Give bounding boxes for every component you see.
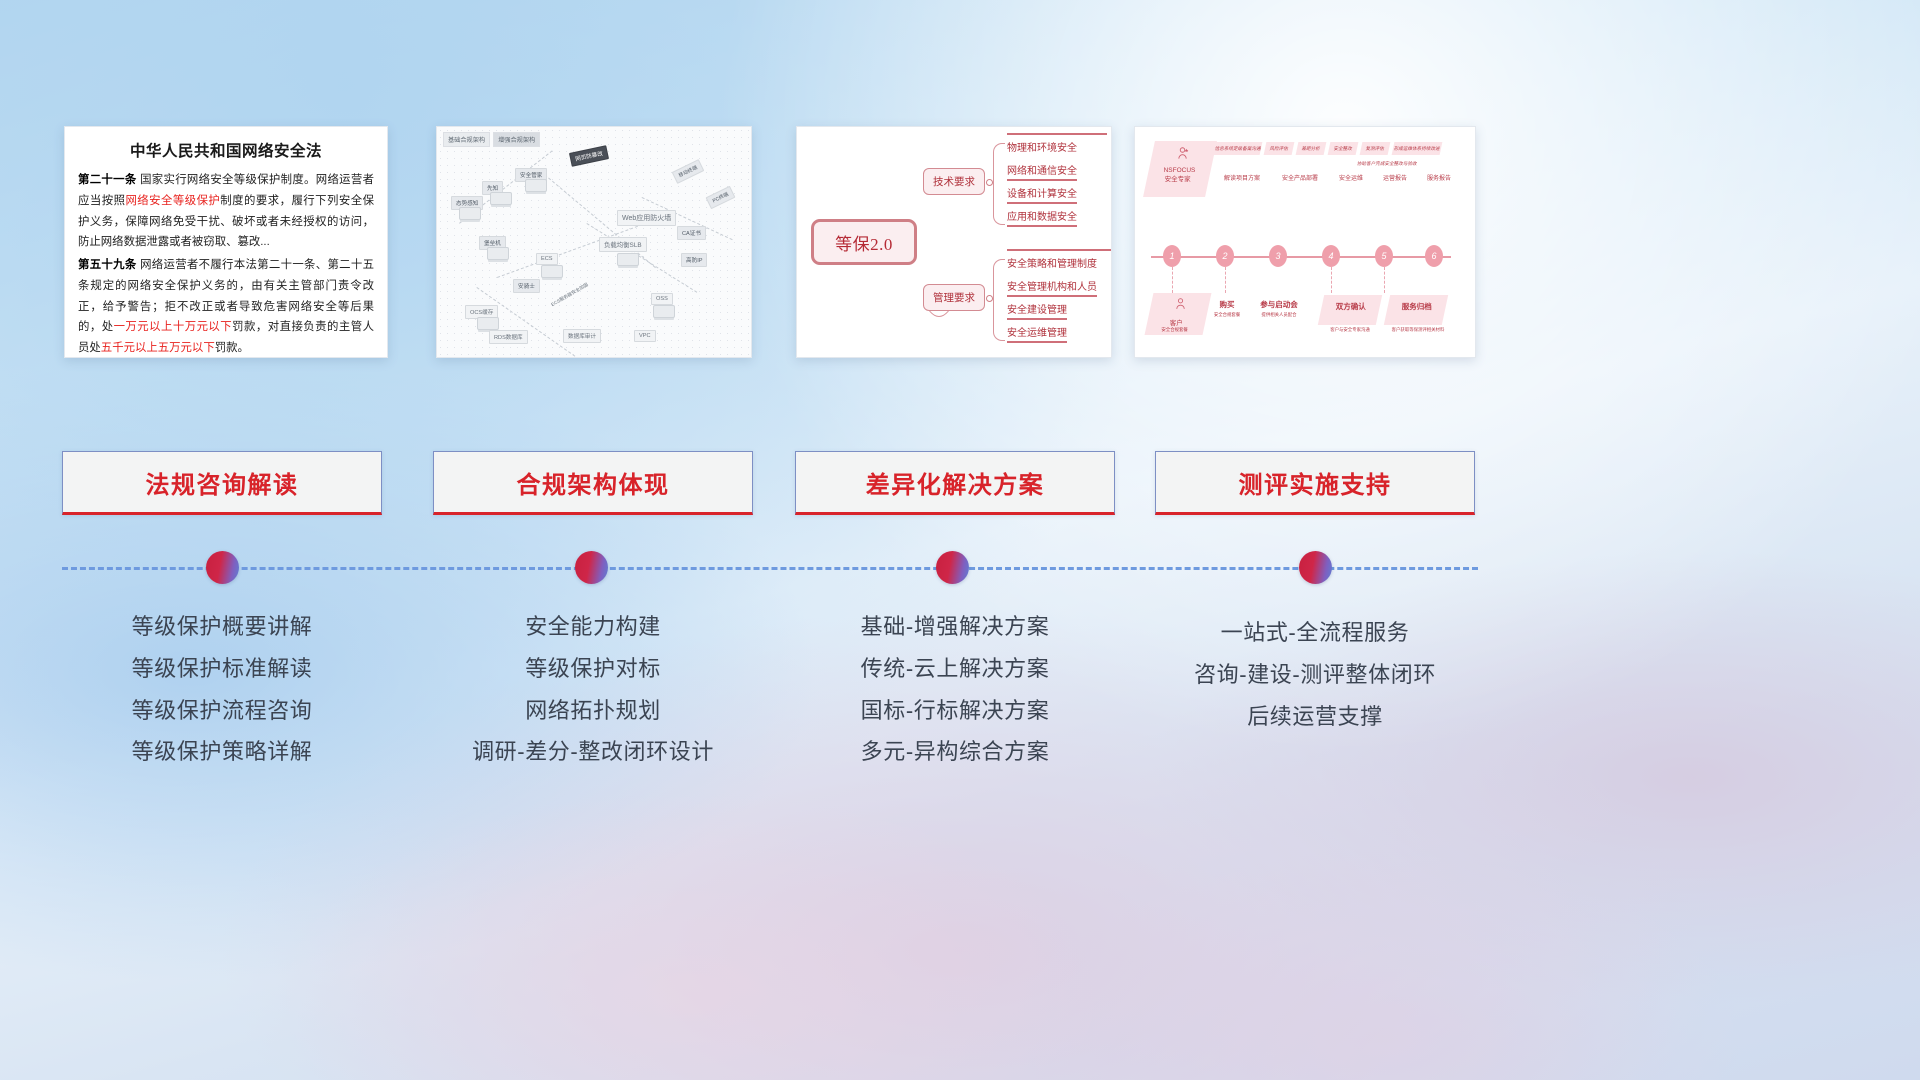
- headline-label: 合规架构体现: [517, 465, 670, 500]
- detail-item: 咨询-建设-测评整体闭环: [1155, 654, 1475, 696]
- slide-page: 中华人民共和国网络安全法 第二十一条 国家实行网络安全等级保护制度。网络运营者应…: [0, 0, 1920, 1080]
- detail-item: 网络拓扑规划: [433, 690, 753, 732]
- detail-item: 安全能力构建: [433, 606, 753, 648]
- detail-item: 等级保护标准解读: [62, 648, 382, 690]
- timeline-dashed-line: [62, 567, 1478, 570]
- detail-column-3: 基础-增强解决方案 传统-云上解决方案 国标-行标解决方案 多元-异构综合方案: [795, 606, 1115, 773]
- headline-label: 测评实施支持: [1239, 465, 1392, 500]
- timeline-dot-3[interactable]: [936, 551, 969, 584]
- detail-item: 等级保护对标: [433, 648, 753, 690]
- detail-column-1: 等级保护概要讲解 等级保护标准解读 等级保护流程咨询 等级保护策略详解: [62, 606, 382, 773]
- detail-item: 基础-增强解决方案: [795, 606, 1115, 648]
- headline-row: 法规咨询解读 合规架构体现 差异化解决方案 测评实施支持 等级保护概要讲解 等级…: [0, 0, 1920, 1080]
- headline-box-compliance-architecture[interactable]: 合规架构体现: [433, 451, 753, 515]
- timeline-dot-2[interactable]: [575, 551, 608, 584]
- headline-box-assessment-support[interactable]: 测评实施支持: [1155, 451, 1475, 515]
- headline-label: 差异化解决方案: [866, 465, 1045, 500]
- detail-item: 国标-行标解决方案: [795, 690, 1115, 732]
- detail-item: 等级保护策略详解: [62, 731, 382, 773]
- detail-item: 后续运营支撑: [1155, 696, 1475, 738]
- detail-column-2: 安全能力构建 等级保护对标 网络拓扑规划 调研-差分-整改闭环设计: [433, 606, 753, 773]
- detail-item: 一站式-全流程服务: [1155, 612, 1475, 654]
- detail-item: 等级保护概要讲解: [62, 606, 382, 648]
- detail-item: 多元-异构综合方案: [795, 731, 1115, 773]
- headline-label: 法规咨询解读: [146, 465, 299, 500]
- timeline-dot-4[interactable]: [1299, 551, 1332, 584]
- headline-box-regulation-consulting[interactable]: 法规咨询解读: [62, 451, 382, 515]
- timeline-dot-1[interactable]: [206, 551, 239, 584]
- detail-column-4: 一站式-全流程服务 咨询-建设-测评整体闭环 后续运营支撑: [1155, 612, 1475, 737]
- detail-item: 传统-云上解决方案: [795, 648, 1115, 690]
- detail-item: 等级保护流程咨询: [62, 690, 382, 732]
- headline-box-differentiated-solution[interactable]: 差异化解决方案: [795, 451, 1115, 515]
- detail-item: 调研-差分-整改闭环设计: [433, 731, 753, 773]
